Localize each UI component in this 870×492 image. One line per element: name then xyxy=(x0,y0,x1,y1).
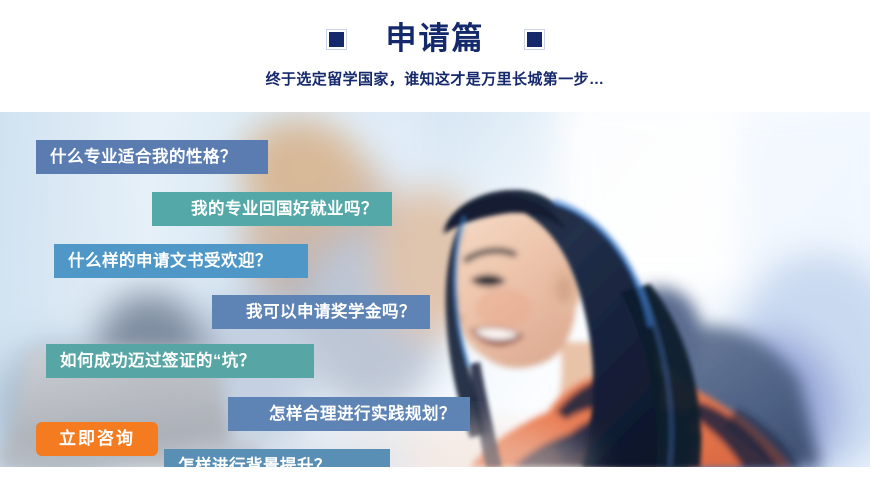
question-bubble-2[interactable]: 我的专业回国好就业吗？ xyxy=(152,192,392,226)
banner-header: 申请篇 终于选定留学国家，谁知这才是万里长城第一步… xyxy=(0,0,870,112)
question-bubble-4[interactable]: 我可以申请奖学金吗？ xyxy=(212,295,430,329)
promo-banner: 什么专业适合我的性格？ 我的专业回国好就业吗？ 什么样的申请文书受欢迎？ 我可以… xyxy=(0,0,870,492)
page-subtitle: 终于选定留学国家，谁知这才是万里长城第一步… xyxy=(0,68,870,89)
page-title: 申请篇 xyxy=(386,18,485,60)
question-bubble-3[interactable]: 什么样的申请文书受欢迎？ xyxy=(54,244,308,278)
consult-now-button[interactable]: 立即咨询 xyxy=(36,422,158,456)
question-bubble-1[interactable]: 什么专业适合我的性格？ xyxy=(36,140,268,174)
question-bubble-list: 什么专业适合我的性格？ 我的专业回国好就业吗？ 什么样的申请文书受欢迎？ 我可以… xyxy=(0,112,870,467)
question-bubble-5[interactable]: 如何成功迈过签证的“坑？ xyxy=(46,344,314,378)
bottom-white-strip xyxy=(0,467,870,492)
question-bubble-6[interactable]: 怎样合理进行实践规划？ xyxy=(228,397,470,431)
title-row: 申请篇 xyxy=(0,18,870,60)
square-bullet-right-icon xyxy=(527,32,542,47)
square-bullet-left-icon xyxy=(329,32,344,47)
